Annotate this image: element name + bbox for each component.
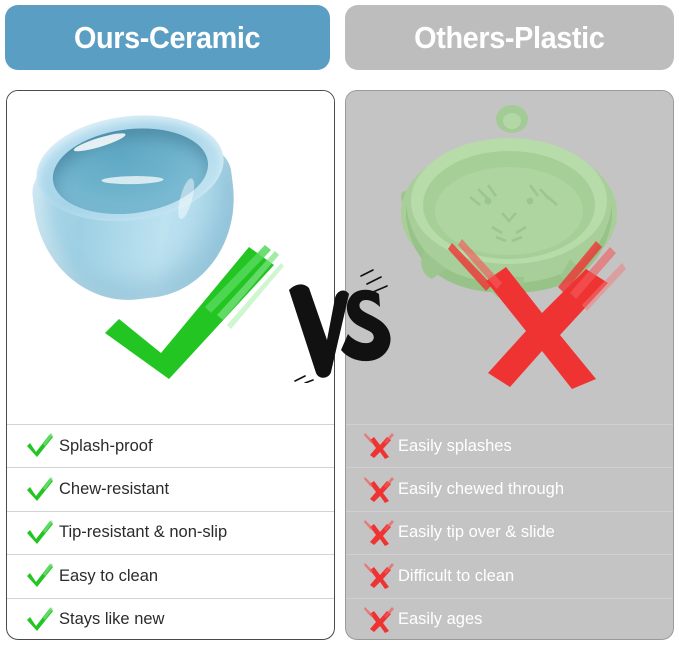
cross-icon <box>360 519 398 547</box>
others-banner-title: Others-Plastic <box>414 20 604 56</box>
ours-banner-title: Ours-Ceramic <box>74 20 260 56</box>
green-plastic-bowl-image <box>384 101 634 311</box>
list-item-label: Tip-resistant & non-slip <box>59 523 227 542</box>
list-item: Tip-resistant & non-slip <box>7 511 334 554</box>
list-item-label: Stays like new <box>59 610 164 629</box>
list-item-label: Chew-resistant <box>59 480 169 499</box>
list-item-label: Splash-proof <box>59 437 153 456</box>
others-banner: Others-Plastic <box>345 5 674 70</box>
list-item: Splash-proof <box>7 424 334 467</box>
list-item: Easily splashes <box>346 424 673 467</box>
others-hero-image <box>346 91 673 424</box>
cross-icon <box>360 562 398 590</box>
list-item-label: Easy to clean <box>59 567 158 586</box>
list-item: Difficult to clean <box>346 554 673 597</box>
blue-ceramic-bowl-image <box>24 105 245 313</box>
cross-icon <box>360 606 398 634</box>
list-item-label: Easily ages <box>398 610 482 629</box>
check-icon <box>21 607 59 633</box>
check-icon <box>21 477 59 503</box>
check-icon <box>21 433 59 459</box>
list-item-label: Easily chewed through <box>398 480 564 499</box>
list-item: Chew-resistant <box>7 467 334 510</box>
list-item: Easily ages <box>346 598 673 640</box>
list-item: Easily tip over & slide <box>346 511 673 554</box>
list-item-label: Difficult to clean <box>398 567 514 586</box>
list-item-label: Easily tip over & slide <box>398 523 555 542</box>
list-item: Easily chewed through <box>346 467 673 510</box>
ours-hero-image <box>7 91 334 424</box>
others-panel: Easily splashes Easily chewed through <box>345 90 674 640</box>
list-item: Easy to clean <box>7 554 334 597</box>
check-icon <box>21 520 59 546</box>
ours-banner: Ours-Ceramic <box>5 5 330 70</box>
list-item-label: Easily splashes <box>398 437 512 456</box>
check-icon <box>21 563 59 589</box>
ours-panel: Splash-proof Chew-resistant Tip-resistan… <box>6 90 335 640</box>
cross-icon <box>360 432 398 460</box>
cross-icon <box>360 476 398 504</box>
others-feature-list: Easily splashes Easily chewed through <box>346 424 673 639</box>
ours-feature-list: Splash-proof Chew-resistant Tip-resistan… <box>7 424 334 639</box>
list-item: Stays like new <box>7 598 334 640</box>
